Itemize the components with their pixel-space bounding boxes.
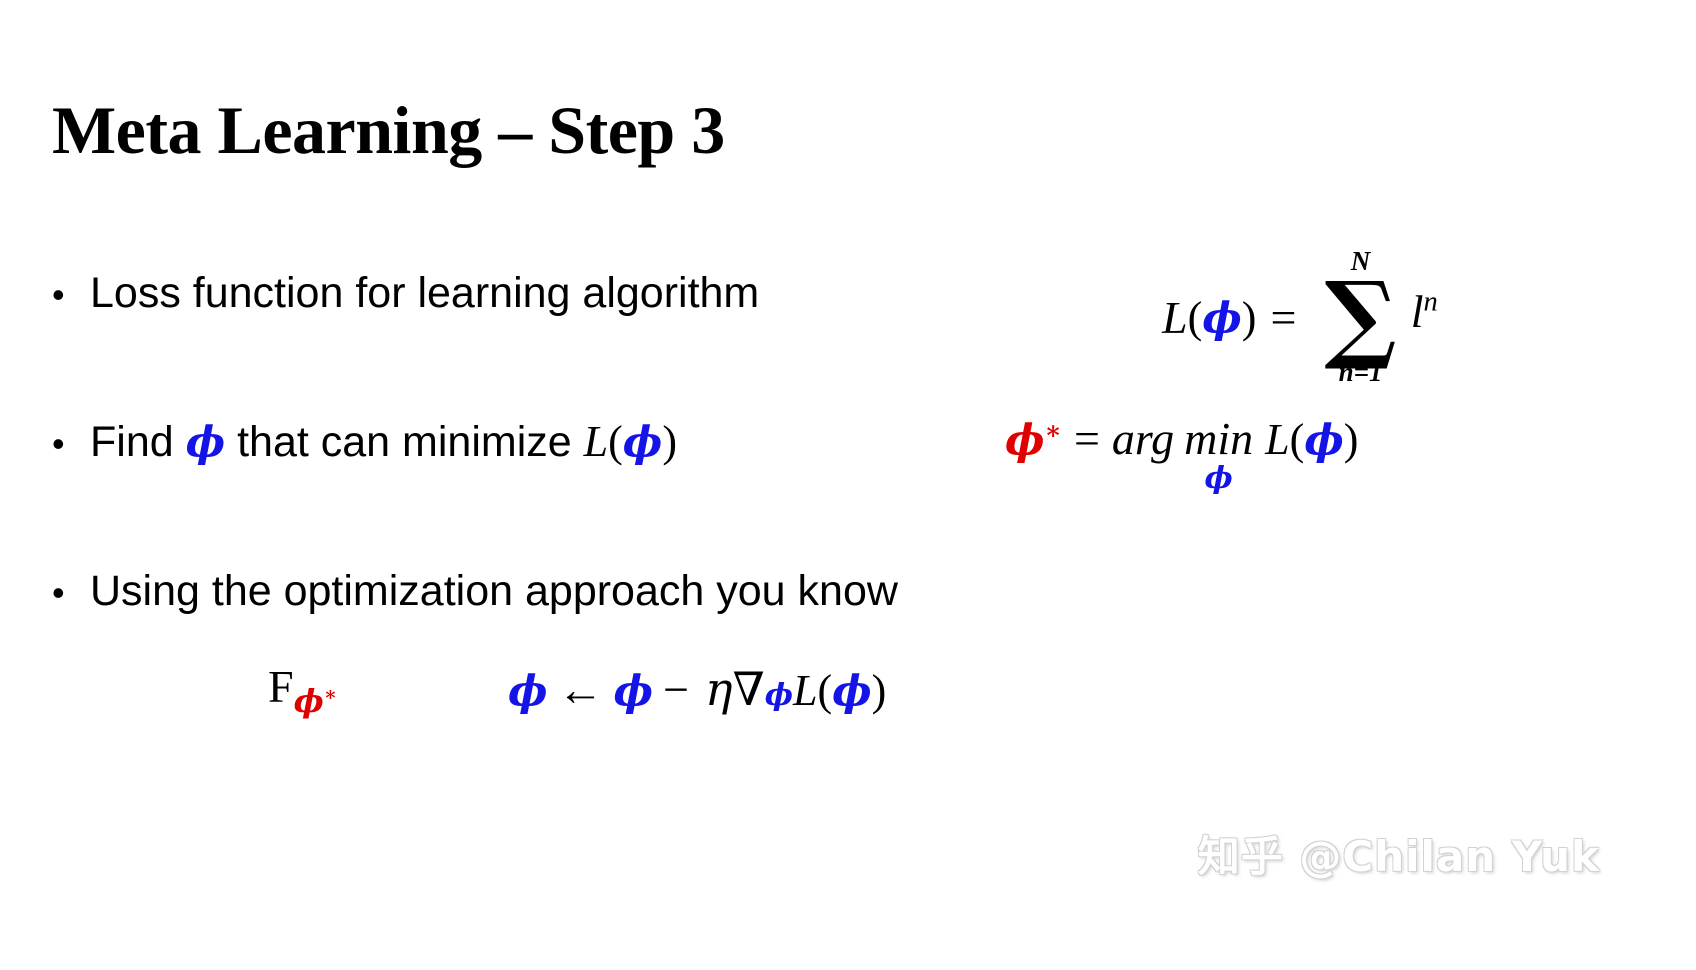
update-inner-phi: ϕ xyxy=(832,666,872,715)
argmin-min-subscript: ϕ xyxy=(1204,464,1232,494)
bullet2-phi-symbol: ϕ xyxy=(186,417,226,466)
formula-f-phi-star: Fϕ∗ xyxy=(268,660,337,720)
watermark: 知乎 @Chilan Yuk xyxy=(1198,823,1600,884)
bullet-label-2: Find ϕ that can minimize L(ϕ) xyxy=(90,418,677,466)
sigma-icon: ∑ xyxy=(1324,273,1396,361)
formula-loss-equals: = xyxy=(1270,291,1296,344)
argmin-min-operator: min ϕ xyxy=(1184,416,1253,494)
argmin-paren-close: ) xyxy=(1344,414,1359,465)
argmin-min-label: min xyxy=(1184,416,1253,462)
bullet-item-3: • Using the optimization approach you kn… xyxy=(52,568,898,615)
formula-loss-paren-close: ) xyxy=(1242,292,1257,343)
bullet-item-2: • Find ϕ that can minimize L(ϕ) xyxy=(52,418,677,466)
bullet2-L-symbol: L xyxy=(584,417,608,466)
update-minus-icon: − xyxy=(663,663,689,716)
bullet-marker-icon: • xyxy=(52,575,90,611)
bullet2-paren-open: ( xyxy=(608,417,623,466)
bullet2-text-mid: that can minimize xyxy=(225,418,583,466)
update-phi-lhs: ϕ xyxy=(508,666,548,715)
argmin-equals: = xyxy=(1074,412,1100,465)
update-L-symbol: L xyxy=(793,665,817,716)
formula-loss-term-base: l xyxy=(1411,286,1424,337)
bullet-item-1: • Loss function for learning algorithm xyxy=(52,270,759,317)
bullet2-text-pre: Find xyxy=(90,418,186,466)
f-subscript-phi-star: ϕ∗ xyxy=(294,682,337,720)
update-phi-rhs: ϕ xyxy=(614,666,654,715)
formula-gradient-update: ϕ ← ϕ − η∇ϕL(ϕ) xyxy=(508,662,886,716)
slide-canvas: Meta Learning – Step 3 • Loss function f… xyxy=(0,0,1696,970)
argmin-L-symbol: L xyxy=(1265,414,1289,465)
bullet-marker-icon: • xyxy=(52,277,90,313)
argmin-paren-open: ( xyxy=(1290,414,1305,465)
f-symbol: F xyxy=(268,661,294,712)
f-subscript-star-icon: ∗ xyxy=(324,683,337,706)
summation-lower-limit: n=1 xyxy=(1339,359,1383,386)
nabla-subscript-phi: ϕ xyxy=(765,678,793,713)
formula-loss-L: L xyxy=(1162,291,1188,344)
bullet2-paren-close: ) xyxy=(662,417,677,466)
bullet2-phi-inner: ϕ xyxy=(623,417,663,466)
formula-loss-phi: ϕ xyxy=(1202,293,1242,342)
bullet-label-3: Using the optimization approach you know xyxy=(90,568,898,615)
bullet-label-1: Loss function for learning algorithm xyxy=(90,270,759,317)
update-paren-close: ) xyxy=(872,665,887,716)
argmin-phi: ϕ xyxy=(1005,415,1045,464)
page-title: Meta Learning – Step 3 xyxy=(52,96,725,164)
nabla-icon: ∇ xyxy=(733,662,765,716)
formula-loss-term-exponent: n xyxy=(1423,286,1437,317)
formula-loss-term: ln xyxy=(1411,285,1438,338)
formula-loss-paren-open: ( xyxy=(1188,292,1203,343)
formula-loss-sum: L(ϕ) = N ∑ n=1 ln xyxy=(1162,248,1438,386)
f-subscript-phi: ϕ xyxy=(294,682,324,720)
bullet-marker-icon: • xyxy=(52,426,90,462)
argmin-phi-star: ϕ∗ xyxy=(1005,415,1062,464)
argmin-inner-phi: ϕ xyxy=(1304,415,1344,464)
argmin-star-icon: ∗ xyxy=(1045,415,1062,445)
update-arrow-icon: ← xyxy=(558,663,604,716)
update-eta-symbol: η xyxy=(705,662,733,716)
argmin-arg-label: arg xyxy=(1112,412,1174,465)
formula-argmin: ϕ∗ = arg min ϕ L(ϕ) xyxy=(1005,412,1358,494)
update-paren-open: ( xyxy=(817,665,832,716)
summation-operator: N ∑ n=1 xyxy=(1324,248,1396,386)
